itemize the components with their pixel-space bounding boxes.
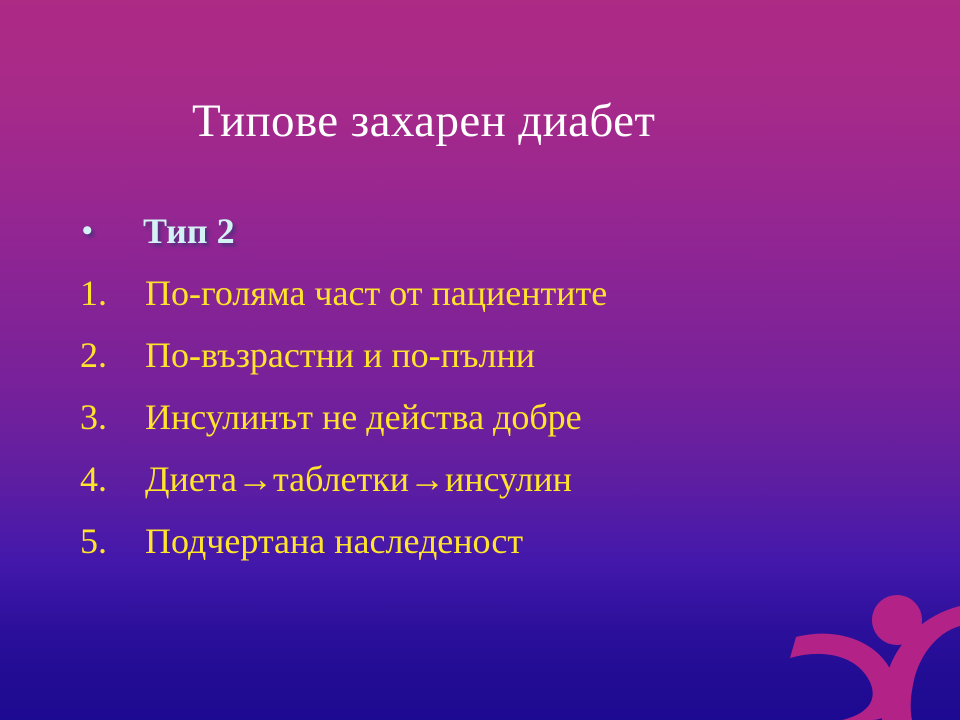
list-item-marker: 4. (80, 461, 138, 497)
list-item: 2. По-възрастни и по-пълни (0, 324, 860, 386)
bullet-icon: • (82, 216, 140, 246)
list-item-label: Инсулинът не действа добре (145, 399, 582, 435)
list-item: 1. По-голяма част от пациентите (0, 262, 860, 324)
list-item-label: Диета→таблетки→инсулин (145, 461, 572, 497)
slide-title: Типове захарен диабет (192, 97, 792, 146)
slide-body-list: • Тип 2 1. По-голяма част от пациентите … (0, 200, 860, 572)
list-item: 5. Подчертана наследеност (0, 510, 860, 572)
list-item-label: По-възрастни и по-пълни (145, 337, 535, 373)
list-item-heading: • Тип 2 (0, 200, 860, 262)
list-item-marker: 5. (80, 523, 138, 559)
list-item: 4. Диета→таблетки→инсулин (0, 448, 860, 510)
list-item-marker: 3. (80, 399, 138, 435)
list-item-label: По-голяма част от пациентите (145, 275, 607, 311)
presentation-slide: Типове захарен диабет • Тип 2 1. По-голя… (0, 0, 960, 720)
list-item-marker: 1. (80, 275, 138, 311)
list-item-label: Подчертана наследеност (145, 523, 523, 559)
human-figure-logo-icon (790, 580, 960, 720)
list-item-heading-label: Тип 2 (143, 213, 235, 249)
list-item: 3. Инсулинът не действа добре (0, 386, 860, 448)
list-item-marker: 2. (80, 337, 138, 373)
